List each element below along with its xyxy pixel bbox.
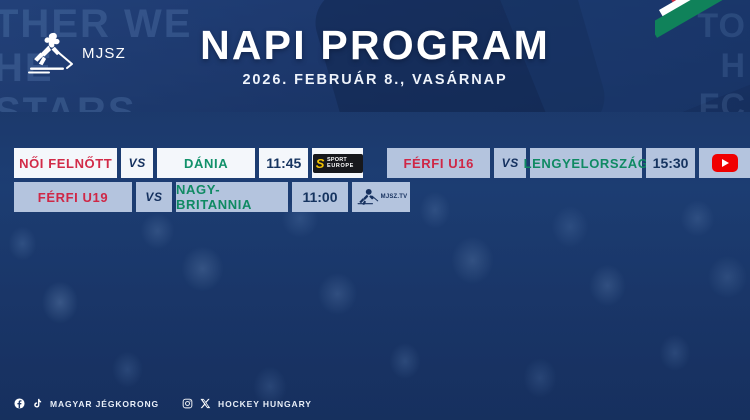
x-twitter-icon[interactable]: [200, 398, 211, 409]
social-label: MAGYAR JÉGKORONG: [50, 399, 159, 409]
sport-europe-tv-logo[interactable]: S SPORT EUROPE: [313, 154, 363, 173]
instagram-icon[interactable]: [182, 398, 193, 409]
tiktok-icon[interactable]: [32, 398, 43, 409]
mjsz-tv-logo[interactable]: MJSZ.TV: [355, 188, 408, 206]
sport-europe-s-glyph: S: [316, 157, 325, 170]
match-broadcaster[interactable]: MJSZ.TV: [352, 182, 410, 212]
match-row: FÉRFI U19 VS NAGY-BRITANNIA 11:00: [0, 182, 750, 212]
youtube-logo[interactable]: [712, 154, 738, 172]
daily-program-poster: THER WE HE STARS TO H FC MJSZ NAPI PROGR…: [0, 0, 750, 420]
match-time: 15:30: [646, 148, 695, 178]
match-team-name[interactable]: FÉRFI U19: [14, 182, 132, 212]
play-triangle-icon: [722, 159, 729, 167]
sport-europe-wordmark: SPORT EUROPE: [327, 157, 354, 169]
hungary-flag-ribbon-icon: [655, 0, 750, 45]
match-broadcaster[interactable]: [699, 148, 750, 178]
hockey-player-icon: [355, 188, 379, 206]
match-team-name[interactable]: NŐI FELNŐTT: [14, 148, 117, 178]
title-block: NAPI PROGRAM 2026. FEBRUÁR 8., VASÁRNAP: [0, 22, 750, 88]
match-vs-label: VS: [136, 182, 172, 212]
social-label: HOCKEY HUNGARY: [218, 399, 312, 409]
match-opponent-name[interactable]: DÁNIA: [157, 148, 255, 178]
match-opponent-name[interactable]: NAGY-BRITANNIA: [176, 182, 288, 212]
match-schedule: NŐI FELNŐTT VS DÁNIA 11:45 S SPORT EUROP…: [0, 148, 750, 216]
match-row: NŐI FELNŐTT VS DÁNIA 11:45 S SPORT EUROP…: [0, 148, 750, 178]
social-footer: MAGYAR JÉGKORONG HOCKEY HUNGARY: [14, 398, 312, 409]
match-time: 11:00: [292, 182, 348, 212]
page-title: NAPI PROGRAM: [0, 22, 750, 68]
facebook-icon[interactable]: [14, 398, 25, 409]
match-broadcaster[interactable]: S SPORT EUROPE: [312, 148, 363, 178]
mjsz-tv-wordmark: MJSZ.TV: [381, 194, 408, 200]
page-subtitle: 2026. FEBRUÁR 8., VASÁRNAP: [0, 72, 750, 88]
match-vs-label: VS: [494, 148, 526, 178]
match-time: 11:45: [259, 148, 308, 178]
match-team-name[interactable]: FÉRFI U16: [387, 148, 490, 178]
column-gap: [367, 148, 383, 178]
match-vs-label: VS: [121, 148, 153, 178]
sport-europe-word-europe: EUROPE: [327, 163, 354, 169]
match-opponent-name[interactable]: LENGYELORSZÁG: [530, 148, 642, 178]
